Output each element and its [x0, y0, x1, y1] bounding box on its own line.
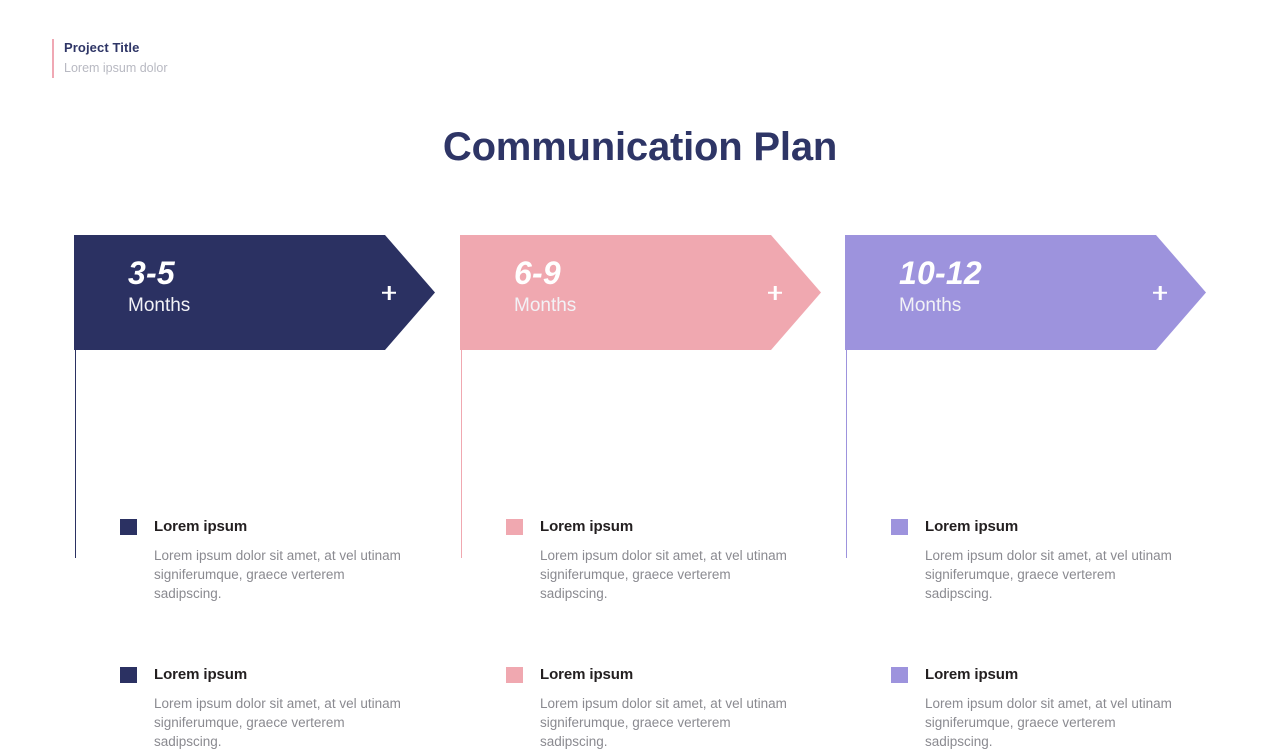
list-item: Lorem ipsum Lorem ipsum dolor sit amet, …: [74, 517, 414, 603]
bullet-marker-icon: [891, 667, 908, 683]
phase-unit: Months: [128, 293, 190, 319]
bullet-marker-icon: [506, 667, 523, 683]
list-item: Lorem ipsum Lorem ipsum dolor sit amet, …: [460, 665, 800, 751]
timeline-column-2: 6-9 Months Lorem ipsum Lorem ipsum dolor…: [460, 235, 845, 640]
plus-icon[interactable]: [768, 286, 782, 300]
column-body: Lorem ipsum Lorem ipsum dolor sit amet, …: [460, 350, 845, 640]
bullet-marker-icon: [120, 519, 137, 535]
phase-arrow-banner-3[interactable]: 10-12 Months: [845, 235, 1206, 350]
bullet-text-group: Lorem ipsum Lorem ipsum dolor sit amet, …: [154, 517, 414, 603]
bullet-text-group: Lorem ipsum Lorem ipsum dolor sit amet, …: [925, 665, 1185, 751]
bullet-marker-icon: [891, 519, 908, 535]
list-item: Lorem ipsum Lorem ipsum dolor sit amet, …: [845, 665, 1185, 751]
bullet-body: Lorem ipsum dolor sit amet, at vel utina…: [540, 694, 790, 751]
bullet-text-group: Lorem ipsum Lorem ipsum dolor sit amet, …: [925, 517, 1185, 603]
timeline-column-1: 3-5 Months Lorem ipsum Lorem ipsum dolor…: [74, 235, 459, 640]
connector-branch: [461, 526, 506, 527]
column-body: Lorem ipsum Lorem ipsum dolor sit amet, …: [74, 350, 459, 640]
phase-range: 3-5: [128, 255, 190, 291]
phase-unit: Months: [514, 293, 576, 319]
timeline-column-3: 10-12 Months Lorem ipsum Lorem ipsum dol…: [845, 235, 1230, 640]
connector-branch: [75, 674, 120, 675]
bullet-heading: Lorem ipsum: [540, 517, 800, 536]
phase-label-group: 10-12 Months: [899, 255, 982, 319]
bullet-text-group: Lorem ipsum Lorem ipsum dolor sit amet, …: [540, 665, 800, 751]
phase-label-group: 6-9 Months: [514, 255, 576, 319]
connector-branch: [75, 526, 120, 527]
header-accent-bar: [52, 39, 54, 78]
bullet-text-group: Lorem ipsum Lorem ipsum dolor sit amet, …: [154, 665, 414, 751]
project-title: Project Title: [64, 39, 168, 57]
bullet-body: Lorem ipsum dolor sit amet, at vel utina…: [925, 546, 1175, 603]
list-item: Lorem ipsum Lorem ipsum dolor sit amet, …: [74, 665, 414, 751]
bullet-body: Lorem ipsum dolor sit amet, at vel utina…: [154, 546, 404, 603]
plus-icon[interactable]: [1153, 286, 1167, 300]
phase-unit: Months: [899, 293, 982, 319]
bullet-heading: Lorem ipsum: [540, 665, 800, 684]
phase-label-group: 3-5 Months: [128, 255, 190, 319]
phase-arrow-banner-1[interactable]: 3-5 Months: [74, 235, 435, 350]
list-item: Lorem ipsum Lorem ipsum dolor sit amet, …: [845, 517, 1185, 603]
bullet-body: Lorem ipsum dolor sit amet, at vel utina…: [925, 694, 1175, 751]
slide-header: Project Title Lorem ipsum dolor: [52, 39, 168, 78]
plus-icon[interactable]: [382, 286, 396, 300]
bullet-heading: Lorem ipsum: [925, 517, 1185, 536]
bullet-body: Lorem ipsum dolor sit amet, at vel utina…: [154, 694, 404, 751]
phase-range: 6-9: [514, 255, 576, 291]
bullet-heading: Lorem ipsum: [925, 665, 1185, 684]
bullet-body: Lorem ipsum dolor sit amet, at vel utina…: [540, 546, 790, 603]
bullet-heading: Lorem ipsum: [154, 517, 414, 536]
bullet-text-group: Lorem ipsum Lorem ipsum dolor sit amet, …: [540, 517, 800, 603]
project-subtitle: Lorem ipsum dolor: [64, 59, 168, 78]
header-text-group: Project Title Lorem ipsum dolor: [64, 39, 168, 78]
bullet-heading: Lorem ipsum: [154, 665, 414, 684]
bullet-marker-icon: [120, 667, 137, 683]
connector-branch: [461, 674, 506, 675]
page-title: Communication Plan: [0, 125, 1280, 170]
list-item: Lorem ipsum Lorem ipsum dolor sit amet, …: [460, 517, 800, 603]
connector-branch: [846, 526, 891, 527]
bullet-marker-icon: [506, 519, 523, 535]
column-body: Lorem ipsum Lorem ipsum dolor sit amet, …: [845, 350, 1230, 640]
phase-arrow-banner-2[interactable]: 6-9 Months: [460, 235, 821, 350]
connector-branch: [846, 674, 891, 675]
phase-range: 10-12: [899, 255, 982, 291]
